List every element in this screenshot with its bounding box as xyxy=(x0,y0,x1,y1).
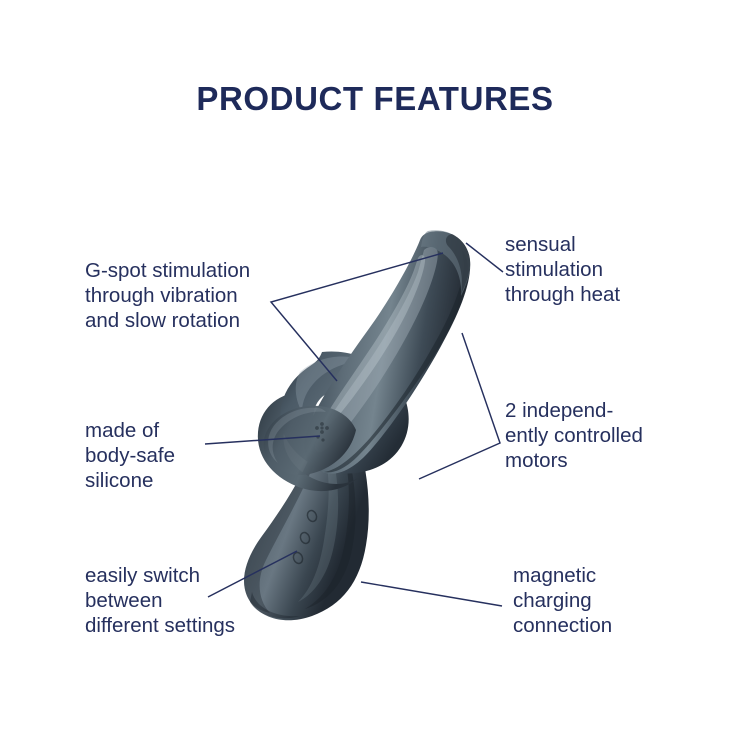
callout-two-motors: 2 independ- ently controlled motors xyxy=(505,398,700,473)
product-features-infographic: PRODUCT FEATURES xyxy=(0,0,750,750)
leader-two-motors xyxy=(419,333,500,479)
callout-easy-switch: easily switch between different settings xyxy=(85,563,295,638)
leader-magnetic-charging xyxy=(361,582,502,606)
callout-g-spot: G-spot stimulation through vibration and… xyxy=(85,258,300,333)
leader-sensual-heat xyxy=(466,243,503,272)
callout-body-safe-silicone: made of body-safe silicone xyxy=(85,418,265,493)
callout-sensual-heat: sensual stimulation through heat xyxy=(505,232,705,307)
callout-magnetic-charging: magnetic charging connection xyxy=(513,563,703,638)
